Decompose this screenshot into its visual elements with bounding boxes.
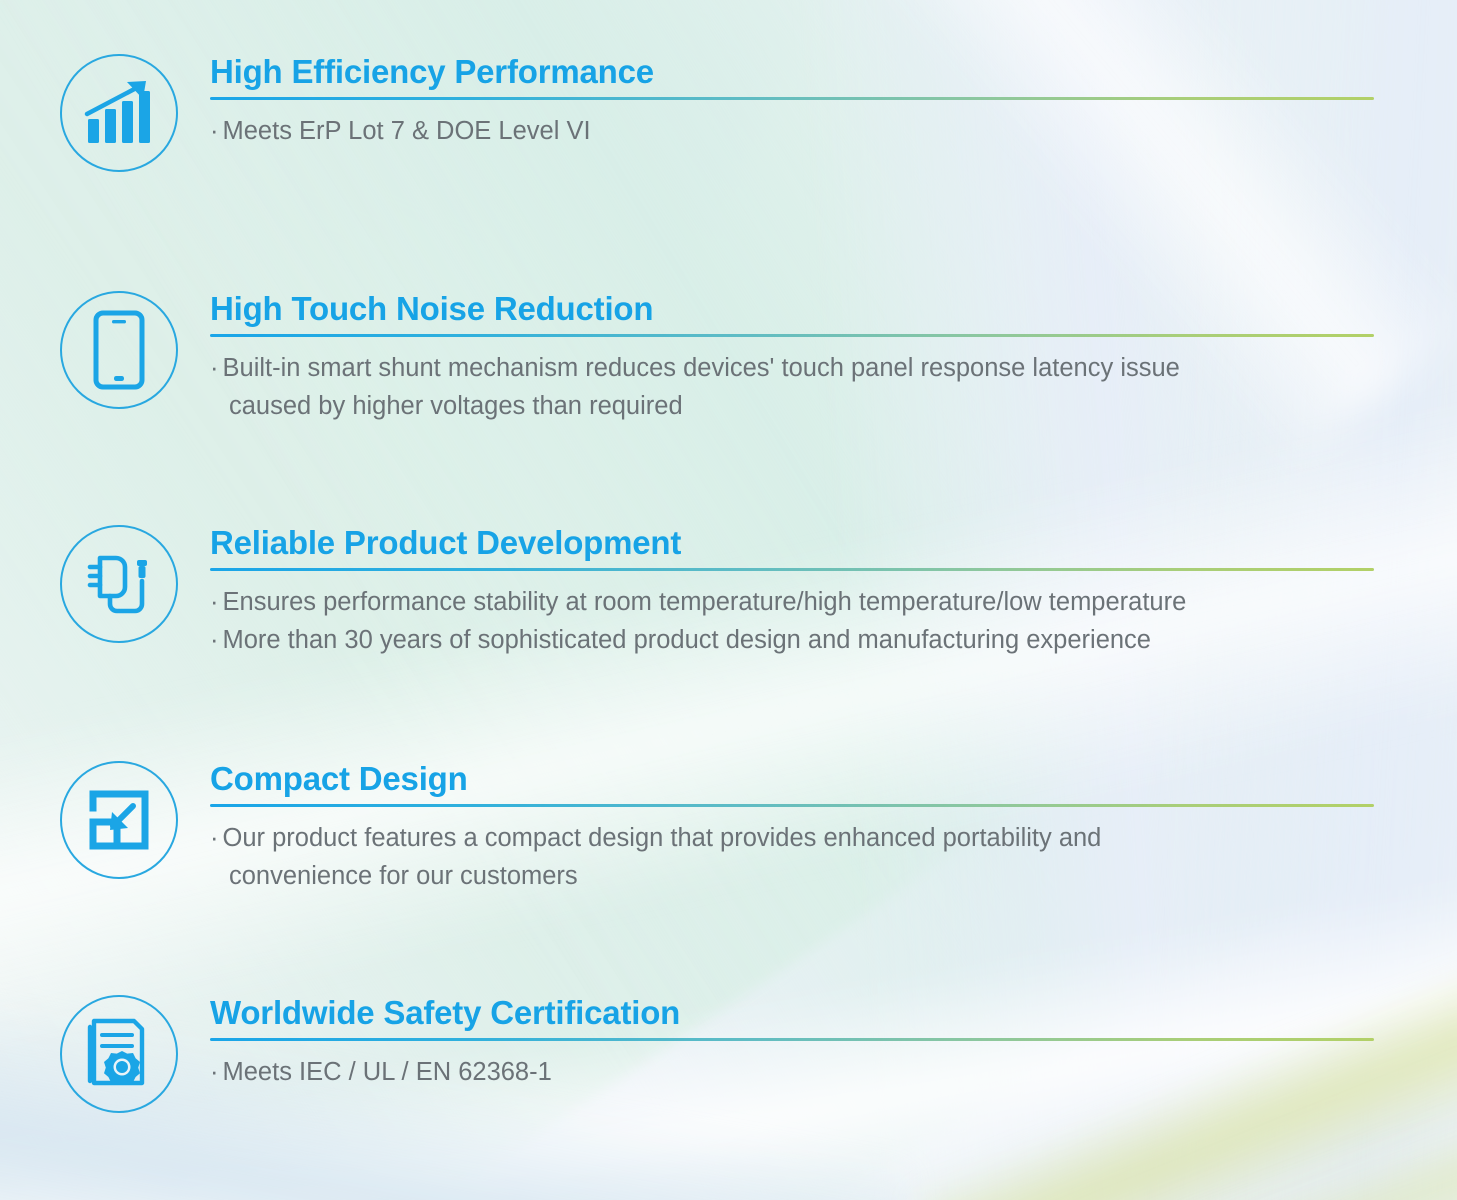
feature-body: Reliable Product Development ·Ensures pe… bbox=[210, 525, 1390, 659]
bullet-text: More than 30 years of sophisticated prod… bbox=[223, 626, 1151, 654]
feature-bullet-line: ·Meets ErP Lot 7 & DOE Level VI bbox=[210, 112, 1390, 150]
feature-divider bbox=[210, 568, 1374, 571]
bullet-text: Ensures performance stability at room te… bbox=[223, 588, 1187, 616]
bullet-marker: · bbox=[210, 824, 219, 852]
feature-title: High Touch Noise Reduction bbox=[210, 291, 1390, 328]
background-streak-middle bbox=[0, 339, 1457, 1081]
bullet-text: Built-in smart shunt mechanism reduces d… bbox=[223, 354, 1180, 382]
feature-description: ·Built-in smart shunt mechanism reduces … bbox=[210, 349, 1390, 426]
bullet-text: Meets IEC / UL / EN 62368-1 bbox=[223, 1058, 552, 1086]
feature-divider bbox=[210, 804, 1374, 807]
feature-list-page: High Efficiency Performance ·Meets ErP L… bbox=[0, 0, 1457, 1200]
feature-divider bbox=[210, 1038, 1374, 1041]
feature-description: ·Meets ErP Lot 7 & DOE Level VI bbox=[210, 112, 1390, 150]
bullet-marker: · bbox=[210, 1058, 219, 1086]
feature-title: High Efficiency Performance bbox=[210, 54, 1390, 91]
feature-icon-wrap bbox=[60, 525, 178, 643]
feature-icon-wrap bbox=[60, 291, 178, 409]
shrink-resize-icon bbox=[60, 761, 178, 879]
bullet-marker: · bbox=[210, 588, 219, 616]
smartphone-icon bbox=[60, 291, 178, 409]
feature-title: Worldwide Safety Certification bbox=[210, 995, 1390, 1032]
feature-bullet-line-continued: caused by higher voltages than required bbox=[210, 387, 1390, 425]
bullet-marker: · bbox=[210, 117, 219, 145]
bar-chart-growth-icon bbox=[60, 54, 178, 172]
feature-body: High Efficiency Performance ·Meets ErP L… bbox=[210, 54, 1390, 150]
feature-title: Compact Design bbox=[210, 761, 1390, 798]
bullet-marker: · bbox=[210, 626, 219, 654]
power-adapter-icon bbox=[60, 525, 178, 643]
feature-body: Compact Design ·Our product features a c… bbox=[210, 761, 1390, 895]
bullet-text: Meets ErP Lot 7 & DOE Level VI bbox=[223, 117, 591, 145]
feature-bullet-line-continued: convenience for our customers bbox=[210, 857, 1390, 895]
feature-body: High Touch Noise Reduction ·Built-in sma… bbox=[210, 291, 1390, 425]
feature-icon-wrap bbox=[60, 995, 178, 1113]
feature-bullet-line: ·More than 30 years of sophisticated pro… bbox=[210, 621, 1390, 659]
feature-bullet-line: ·Our product features a compact design t… bbox=[210, 819, 1390, 857]
feature-icon-wrap bbox=[60, 761, 178, 879]
feature-bullet-line: ·Meets IEC / UL / EN 62368-1 bbox=[210, 1053, 1390, 1091]
certificate-seal-icon bbox=[60, 995, 178, 1113]
feature-divider bbox=[210, 97, 1374, 100]
feature-body: Worldwide Safety Certification ·Meets IE… bbox=[210, 995, 1390, 1091]
bullet-marker: · bbox=[210, 354, 219, 382]
feature-icon-wrap bbox=[60, 54, 178, 172]
feature-bullet-line: ·Ensures performance stability at room t… bbox=[210, 583, 1390, 621]
feature-description: ·Meets IEC / UL / EN 62368-1 bbox=[210, 1053, 1390, 1091]
feature-divider bbox=[210, 334, 1374, 337]
feature-description: ·Our product features a compact design t… bbox=[210, 819, 1390, 896]
feature-title: Reliable Product Development bbox=[210, 525, 1390, 562]
feature-description: ·Ensures performance stability at room t… bbox=[210, 583, 1390, 660]
bullet-text: Our product features a compact design th… bbox=[223, 824, 1102, 852]
feature-bullet-line: ·Built-in smart shunt mechanism reduces … bbox=[210, 349, 1390, 387]
